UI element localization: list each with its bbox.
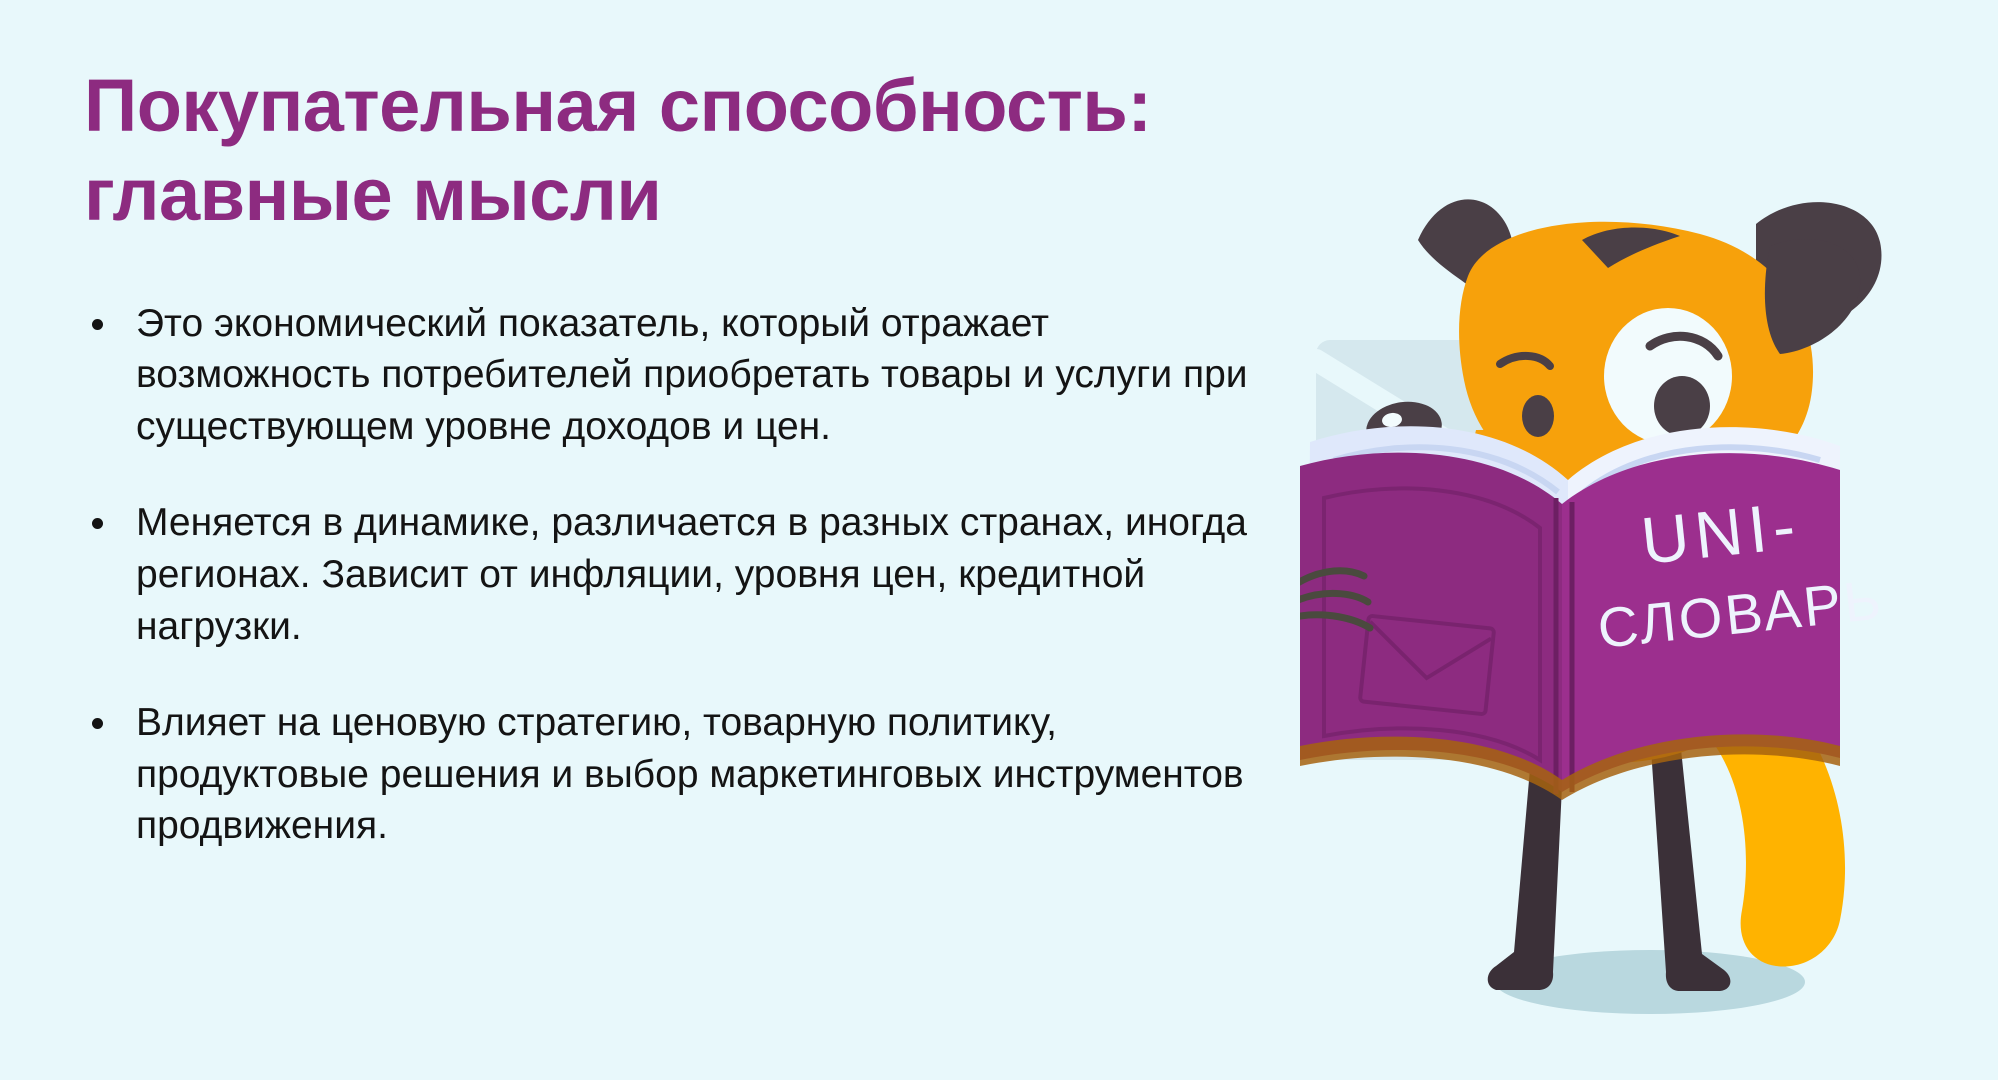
- key-points-list: Это экономический показатель, который от…: [84, 298, 1314, 853]
- fox-pupil-right: [1654, 376, 1710, 436]
- page-title: Покупательная способность: главные мысли: [84, 62, 1314, 240]
- slide-root: Покупательная способность: главные мысли…: [0, 0, 1998, 1080]
- fox-reading-book-illustration: UNI- СЛОВАРЬ: [1300, 180, 1998, 1080]
- list-item-text: Влияет на ценовую стратегию, товарную по…: [136, 701, 1244, 848]
- text-column: Покупательная способность: главные мысли…: [84, 62, 1314, 852]
- list-item-text: Меняется в динамике, различается в разны…: [136, 501, 1247, 648]
- bullet-dot-icon: [92, 518, 103, 529]
- fox-pupil-left: [1522, 395, 1554, 437]
- book-cover: UNI- СЛОВАРЬ: [1300, 453, 1887, 800]
- list-item: Меняется в динамике, различается в разны…: [84, 497, 1264, 653]
- list-item: Влияет на ценовую стратегию, товарную по…: [84, 697, 1264, 853]
- list-item: Это экономический показатель, который от…: [84, 298, 1264, 454]
- bullet-dot-icon: [92, 718, 103, 729]
- fox-ear-right-inner: [1765, 239, 1860, 354]
- list-item-text: Это экономический показатель, который от…: [136, 302, 1248, 449]
- bullet-dot-icon: [92, 319, 103, 330]
